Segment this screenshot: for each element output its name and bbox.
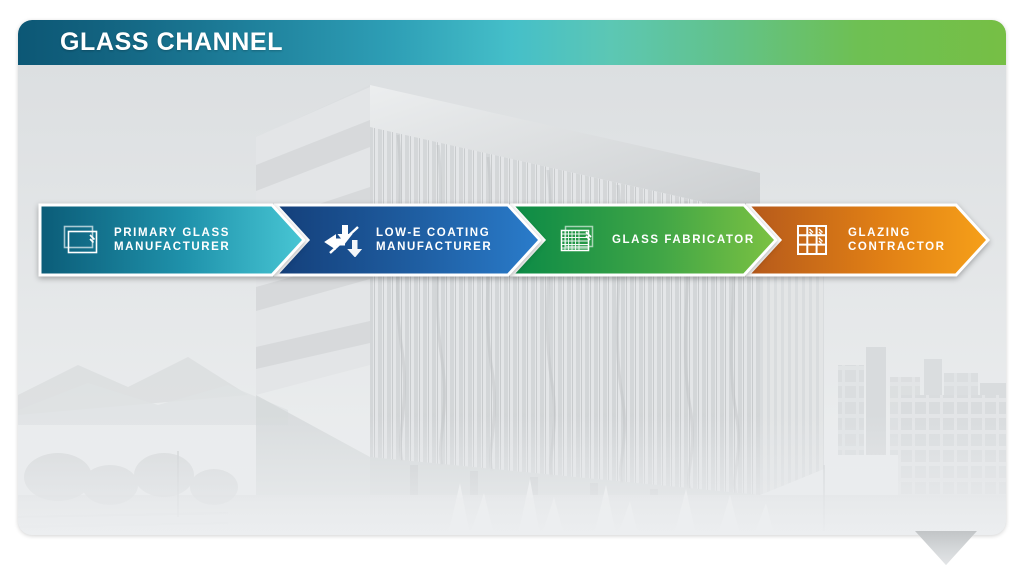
slide-canvas: GLASS CHANNEL — [0, 0, 1022, 577]
window-grid-icon — [794, 223, 834, 257]
process-chevron-bar: PRIMARY GLASS MANUFACTURER — [38, 203, 990, 277]
chevron-glazing-contractor[interactable]: GLAZING CONTRACTOR — [746, 203, 990, 277]
bottom-pointer-tab-fill — [915, 531, 977, 565]
page-title: GLASS CHANNEL — [60, 20, 283, 65]
solar-reflect-arrows-icon — [322, 223, 362, 257]
chevron-primary-glass-manufacturer[interactable]: PRIMARY GLASS MANUFACTURER — [38, 203, 306, 277]
glass-pane-icon — [60, 223, 100, 257]
content-card: GLASS CHANNEL — [18, 20, 1006, 535]
chevron-label: GLAZING CONTRACTOR — [848, 226, 990, 254]
chevron-label: PRIMARY GLASS MANUFACTURER — [114, 226, 230, 254]
chevron-label: LOW-E COATING MANUFACTURER — [376, 226, 492, 254]
background-photo — [18, 65, 1006, 535]
chevron-glass-fabricator[interactable]: GLASS FABRICATOR — [510, 203, 778, 277]
gridded-glass-pane-icon — [558, 223, 598, 257]
header-bar: GLASS CHANNEL — [18, 20, 1006, 65]
chevron-low-e-coating-manufacturer[interactable]: LOW-E COATING MANUFACTURER — [274, 203, 542, 277]
chevron-label: GLASS FABRICATOR — [612, 233, 755, 247]
bottom-pointer-tab — [915, 531, 977, 565]
